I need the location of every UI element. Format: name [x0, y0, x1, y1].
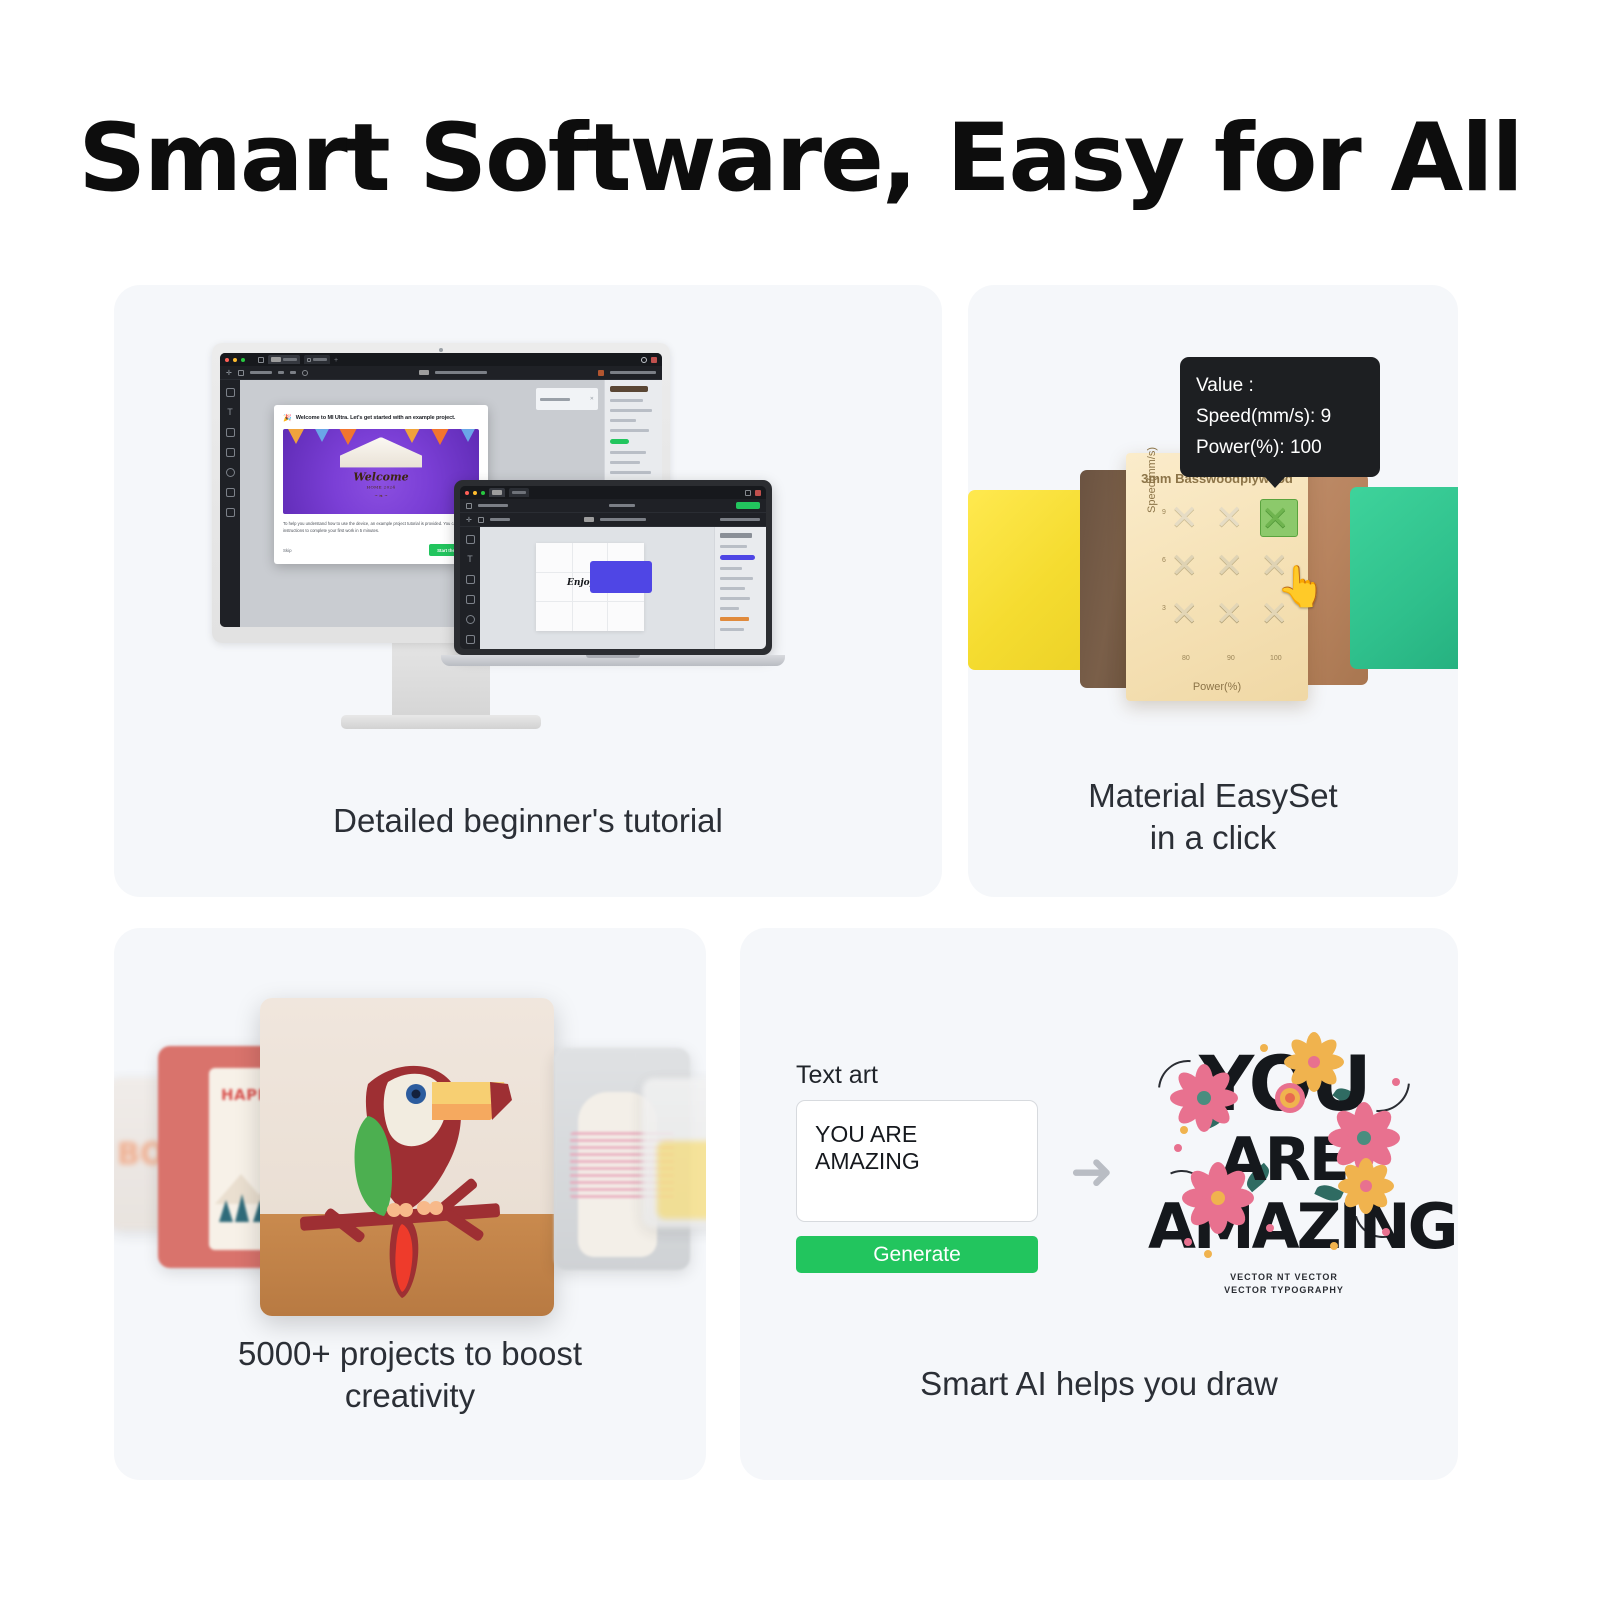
- welcome-dialog-body: To help you understand how to use the de…: [283, 521, 479, 534]
- x-tick-80: 80: [1182, 655, 1190, 662]
- pen-tool-icon[interactable]: [466, 595, 475, 604]
- file-icon: [307, 358, 311, 362]
- material-preview-icon: [720, 533, 752, 538]
- caption-line-2: in a click: [968, 817, 1458, 859]
- node-tool-icon[interactable]: [226, 468, 235, 477]
- menu-icon[interactable]: [258, 357, 264, 363]
- text-tool-icon[interactable]: T: [226, 408, 235, 417]
- minimize-icon[interactable]: [745, 490, 751, 496]
- add-tab-icon[interactable]: +: [334, 357, 340, 363]
- shape-tool-icon[interactable]: [466, 575, 475, 584]
- background-color-swatch[interactable]: [720, 617, 749, 621]
- hero-word: Welcome: [340, 471, 422, 482]
- start-process-button[interactable]: [720, 555, 755, 560]
- welcome-dialog-title: Welcome to MI Ultra. Let's get started w…: [296, 415, 456, 421]
- text-art-input[interactable]: YOU ARE AMAZING: [796, 1100, 1038, 1222]
- user-defined-material-label[interactable]: [610, 371, 656, 374]
- laptop-device: ✛ T: [454, 480, 772, 666]
- welcome-dialog-header: 🎉 Welcome to MI Ultra. Let's get started…: [283, 414, 479, 422]
- laptop-app-window: ✛ T: [460, 486, 766, 649]
- tab-thumbnail-icon: [492, 490, 502, 495]
- image-tool-icon[interactable]: [226, 388, 235, 397]
- app-toolbar: ✛: [220, 366, 662, 380]
- minimize-window-icon[interactable]: [233, 358, 237, 362]
- frame-tool-icon[interactable]: [466, 635, 475, 644]
- value-tooltip: Value : Speed(mm/s): 9 Power(%): 100: [1180, 357, 1380, 477]
- tab-label: [283, 358, 297, 361]
- arrow-right-icon: ➜: [1070, 1146, 1114, 1198]
- caption-material-easyset: Material EasySet in a click: [968, 775, 1458, 859]
- tab-label: [512, 491, 526, 494]
- avatar[interactable]: [651, 357, 657, 363]
- text-tool-icon[interactable]: T: [466, 555, 475, 564]
- frame-icon[interactable]: [238, 370, 244, 376]
- hero-subtitle: HOME 2024: [340, 484, 422, 489]
- image-tool-icon[interactable]: [466, 535, 475, 544]
- menu-label[interactable]: [478, 504, 508, 507]
- document-name-label: [435, 371, 487, 374]
- caption-detailed-tutorial: Detailed beginner's tutorial: [114, 800, 942, 842]
- tooltip-line-speed: Speed(mm/s): 9: [1196, 402, 1364, 433]
- art-caption-line-2: VECTOR TYPOGRAPHY: [1148, 1285, 1420, 1295]
- laptop-lid: ✛ T: [454, 480, 772, 655]
- hand-cursor-icon: 👆: [1276, 563, 1326, 610]
- gallery-item-toucan[interactable]: [260, 998, 554, 1316]
- gallery-item-yellow-tag[interactable]: [642, 1078, 706, 1228]
- pen-tool-icon[interactable]: [226, 448, 235, 457]
- device-thumbnail-icon: [419, 370, 429, 375]
- text-art-label: Text art: [796, 1061, 878, 1090]
- grid-cell-s6-p80[interactable]: ✕: [1170, 547, 1208, 585]
- properties-sidebar: [714, 527, 766, 649]
- grid-cell-s9-p100-selected[interactable]: ✕: [1260, 499, 1298, 537]
- material-preview-icon: [610, 386, 648, 392]
- tab-project-secondary[interactable]: [304, 355, 330, 364]
- app-menu-bar: [460, 499, 766, 513]
- y-axis-label: Speed(mm/s): [1146, 447, 1158, 513]
- app-tab-bar: +: [220, 353, 662, 366]
- maximize-window-icon[interactable]: [481, 491, 485, 495]
- monitor-camera-icon: [439, 348, 443, 352]
- y-tick-3: 3: [1162, 605, 1166, 612]
- document-name-label: [600, 518, 646, 521]
- caption-projects-gallery: 5000+ projects to boost creativity: [114, 1333, 706, 1417]
- tool-rail: T: [220, 380, 240, 627]
- caption-line-2: creativity: [114, 1375, 706, 1417]
- tab-label: [313, 358, 327, 361]
- processing-toggle[interactable]: [610, 439, 629, 444]
- y-tick-6: 6: [1162, 557, 1166, 564]
- close-icon[interactable]: ✕: [590, 396, 594, 402]
- page-title: Smart Software, Easy for All: [0, 104, 1600, 213]
- connect-button-label[interactable]: [250, 371, 272, 374]
- tooltip-line-value: Value :: [1196, 371, 1364, 402]
- grid-cell-s3-p90[interactable]: ✕: [1215, 595, 1253, 633]
- art-word-you: YOU: [1148, 1046, 1420, 1122]
- y-tick-9: 9: [1162, 509, 1166, 516]
- close-window-icon[interactable]: [225, 358, 229, 362]
- tooltip-line-power: Power(%): 100: [1196, 433, 1364, 464]
- caption-line-1: 5000+ projects to boost: [114, 1333, 706, 1375]
- easyset-panel-chip[interactable]: ✕: [536, 388, 598, 410]
- swatch-yellow-acrylic: [968, 490, 1090, 670]
- tab-project-active[interactable]: [489, 488, 505, 497]
- minimize-window-icon[interactable]: [473, 491, 477, 495]
- tab-project-active[interactable]: [268, 355, 300, 364]
- app-toolbar: ✛: [460, 513, 766, 527]
- x-tick-90: 90: [1227, 655, 1235, 662]
- move-tool-icon[interactable]: ✛: [226, 370, 232, 376]
- laptop-notch: [586, 655, 640, 658]
- design-canvas[interactable]: Enjoy Today: [480, 527, 714, 649]
- tab-thumbnail-icon: [271, 357, 281, 362]
- welcome-hero-image: Welcome HOME 2024 ~ ❧ ~: [283, 429, 479, 514]
- node-tool-icon[interactable]: [466, 615, 475, 624]
- close-window-icon[interactable]: [465, 491, 469, 495]
- easyset-panel-label: [540, 398, 570, 401]
- frame-tool-icon[interactable]: [226, 488, 235, 497]
- grid-cell-s3-p80[interactable]: ✕: [1170, 595, 1208, 633]
- grid-icon[interactable]: [466, 503, 472, 509]
- x-tick-100: 100: [1270, 655, 1282, 662]
- frame-icon[interactable]: [478, 517, 484, 523]
- hero-laurel-icon: ~ ❧ ~: [340, 493, 422, 499]
- x-axis-label: Power(%): [1126, 681, 1308, 693]
- shape-tool-icon[interactable]: [226, 428, 235, 437]
- avatar[interactable]: [755, 490, 761, 496]
- app-body: T Enjoy Today: [460, 527, 766, 649]
- art-caption-line-1: VECTOR NT VECTOR: [1148, 1272, 1420, 1282]
- notification-bell-icon[interactable]: [641, 357, 647, 363]
- lock-icon[interactable]: [302, 370, 308, 376]
- caption-smart-ai: Smart AI helps you draw: [740, 1363, 1458, 1405]
- party-popper-icon: 🎉: [283, 414, 292, 422]
- welcome-dialog-footer: Skip Start the tutorial: [283, 544, 479, 556]
- generate-button[interactable]: Generate: [796, 1236, 1038, 1273]
- connect-label[interactable]: [490, 518, 510, 521]
- device-thumbnail-icon: [584, 517, 594, 522]
- grid-cell-s9-p80[interactable]: ✕: [1170, 499, 1208, 537]
- grid-tool-icon[interactable]: [226, 508, 235, 517]
- tab-project-secondary[interactable]: [509, 488, 529, 497]
- skip-button[interactable]: Skip: [283, 548, 292, 553]
- grid-cell-s9-p90[interactable]: ✕: [1215, 499, 1253, 537]
- material-swatch-icon: [598, 370, 604, 376]
- redo-icon[interactable]: [290, 371, 296, 374]
- undo-icon[interactable]: [278, 371, 284, 374]
- general-settings-popover: [590, 561, 652, 593]
- caption-line-1: Material EasySet: [968, 775, 1458, 817]
- toucan-artwork-icon: [260, 998, 554, 1316]
- maximize-window-icon[interactable]: [241, 358, 245, 362]
- connect-button[interactable]: [736, 502, 760, 509]
- art-word-amazing: AMAZING: [1148, 1196, 1420, 1258]
- laptop-base: [441, 655, 785, 666]
- generated-text-art: YOU ARE AMAZING: [1148, 1020, 1420, 1310]
- swatch-green-acrylic: [1350, 487, 1458, 669]
- grid-cell-s6-p90[interactable]: ✕: [1215, 547, 1253, 585]
- art-word-are: ARE: [1148, 1130, 1420, 1190]
- tool-rail: T: [460, 527, 480, 649]
- user-defined-material-label[interactable]: [720, 518, 760, 521]
- device-status-label: [609, 504, 635, 507]
- welcome-gift-box: Welcome HOME 2024 ~ ❧ ~: [340, 437, 422, 509]
- monitor-stand-foot: [341, 715, 541, 729]
- app-tab-bar: [460, 486, 766, 499]
- move-tool-icon[interactable]: ✛: [466, 517, 472, 523]
